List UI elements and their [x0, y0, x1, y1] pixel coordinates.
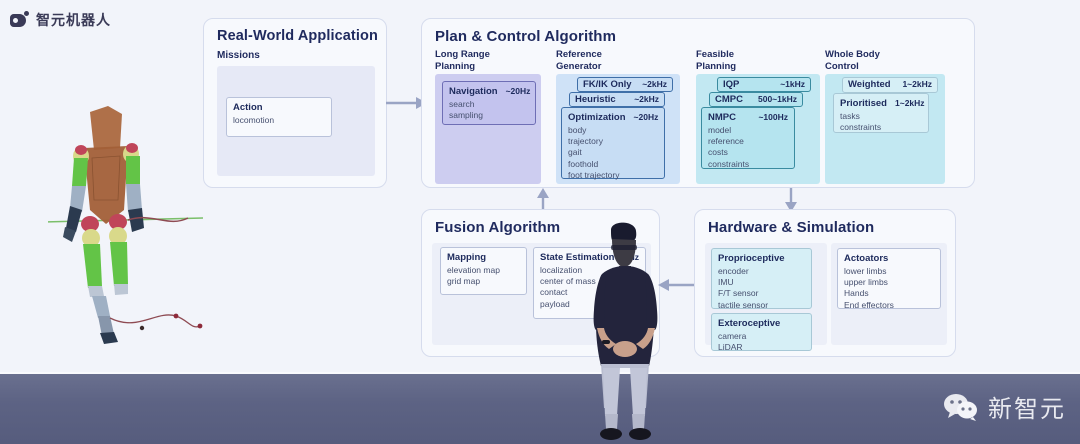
brand-name: 智元机器人 — [36, 10, 111, 30]
card-heuristic[interactable]: Heuristic ~2kHz — [569, 92, 665, 107]
card-fk-ik-only-name: FK/IK Only — [583, 79, 632, 90]
card-nmpc-freq: ~100Hz — [758, 112, 788, 122]
hardware-title: Hardware & Simulation — [708, 219, 874, 236]
card-navigation-name: Navigation — [449, 86, 498, 97]
column-title-feasible-planning: Feasible Planning — [696, 49, 786, 73]
wechat-icon — [942, 392, 980, 422]
stage-floor — [0, 374, 1080, 444]
column-title-reference-generator: Reference Generator — [556, 49, 646, 73]
brand-logo: 智元机器人 — [10, 10, 111, 30]
card-heuristic-name: Heuristic — [575, 94, 616, 105]
card-fk-ik-only-freq: ~2kHz — [642, 79, 667, 89]
column-title-long-range-planning: Long Range Planning — [435, 49, 525, 73]
presentation-stage: 智元机器人 — [0, 0, 1080, 444]
card-mapping-name: Mapping — [447, 252, 486, 263]
card-cmpc-name: CMPC — [715, 94, 743, 105]
panel-hardware-simulation[interactable]: Hardware & Simulation Proprioceptive enc… — [694, 209, 956, 357]
card-mapping[interactable]: Mapping elevation map grid map — [440, 247, 527, 295]
card-cmpc-freq: 500~1kHz — [758, 94, 797, 104]
card-prioritised[interactable]: Prioritised 1~2kHz tasks constraints — [833, 93, 929, 133]
card-prioritised-freq: 1~2kHz — [895, 98, 925, 108]
plan-control-title: Plan & Control Algorithm — [435, 28, 616, 45]
card-proprioceptive[interactable]: Proprioceptive encoder IMU F/T sensor ta… — [711, 248, 812, 309]
card-navigation[interactable]: Navigation ~20Hz search sampling — [442, 81, 536, 125]
card-proprioceptive-items: encoder IMU F/T sensor tactile sensor — [718, 266, 805, 311]
card-weighted-freq: 1~2kHz — [902, 79, 932, 89]
presenter-person — [575, 218, 675, 444]
card-action-items: locomotion — [233, 115, 325, 126]
card-navigation-freq: ~20Hz — [506, 86, 531, 96]
card-exteroceptive[interactable]: Exteroceptive camera LiDAR — [711, 313, 812, 351]
card-proprioceptive-name: Proprioceptive — [718, 253, 785, 264]
column-title-whole-body-control: Whole Body Control — [825, 49, 925, 73]
card-nmpc[interactable]: NMPC ~100Hz model reference costs constr… — [701, 107, 795, 169]
robot-logo-icon — [10, 10, 30, 30]
card-action-name: Action — [233, 102, 263, 113]
card-optimization[interactable]: Optimization ~20Hz body trajectory gait … — [561, 107, 665, 179]
card-exteroceptive-name: Exteroceptive — [718, 318, 780, 329]
card-optimization-name: Optimization — [568, 112, 626, 123]
card-action[interactable]: Action locomotion — [226, 97, 332, 137]
humanoid-robot-illustration — [48, 100, 208, 345]
card-actoators[interactable]: Actoators lower limbs upper limbs Hands … — [837, 248, 941, 309]
card-cmpc[interactable]: CMPC 500~1kHz — [709, 92, 803, 107]
card-iqp[interactable]: IQP ~1kHz — [717, 77, 811, 92]
card-heuristic-freq: ~2kHz — [634, 94, 659, 104]
card-exteroceptive-items: camera LiDAR — [718, 331, 805, 353]
card-nmpc-items: model reference costs constraints — [708, 125, 788, 170]
card-optimization-items: body trajectory gait foothold foot traje… — [568, 125, 658, 181]
card-optimization-freq: ~20Hz — [634, 112, 659, 122]
card-weighted[interactable]: Weighted 1~2kHz — [842, 77, 938, 93]
card-navigation-items: search sampling — [449, 99, 529, 121]
fusion-title: Fusion Algorithm — [435, 219, 560, 236]
card-iqp-name: IQP — [723, 79, 739, 90]
wechat-watermark: 新智元 — [942, 389, 1066, 424]
panel-real-world-application[interactable]: Real-World Application Missions Action l… — [203, 18, 387, 188]
card-prioritised-name: Prioritised — [840, 98, 887, 109]
card-mapping-items: elevation map grid map — [447, 265, 520, 287]
card-actoators-name: Actoators — [844, 253, 888, 264]
panel-plan-control-algorithm[interactable]: Plan & Control Algorithm Long Range Plan… — [421, 18, 975, 188]
real-world-title: Real-World Application — [217, 28, 378, 44]
card-actoators-items: lower limbs upper limbs Hands End effect… — [844, 266, 934, 311]
missions-label: Missions — [217, 50, 260, 61]
card-nmpc-name: NMPC — [708, 112, 736, 123]
card-iqp-freq: ~1kHz — [780, 79, 805, 89]
watermark-text: 新智元 — [988, 389, 1066, 424]
card-weighted-name: Weighted — [848, 79, 891, 90]
card-prioritised-items: tasks constraints — [840, 111, 922, 133]
card-fk-ik-only[interactable]: FK/IK Only ~2kHz — [577, 77, 673, 92]
